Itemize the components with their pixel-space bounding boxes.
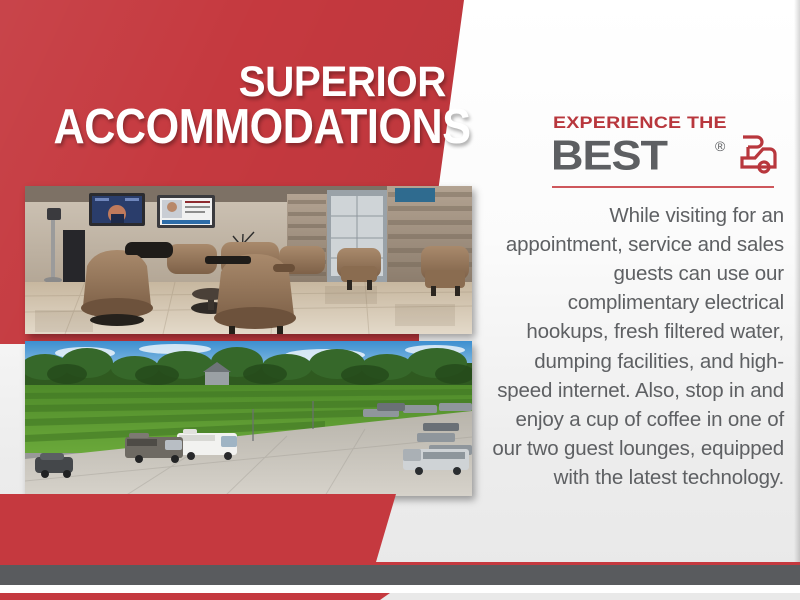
rv-lot-illustration: [25, 341, 472, 496]
poster-page: SUPERIOR ACCOMMODATIONS: [0, 0, 800, 600]
body-paragraph: While visiting for an appointment, servi…: [492, 201, 784, 492]
headline-line-1: SUPERIOR: [27, 62, 446, 103]
experience-the-best-logo: EXPERIENCE THE BEST ®: [548, 114, 780, 192]
right-edge-shadow: [794, 0, 800, 600]
logo-tagline: EXPERIENCE THE: [553, 114, 727, 133]
logo-divider-rule: [552, 186, 774, 188]
guest-lounge-illustration: [25, 186, 472, 334]
rv-motorhome-icon: [736, 134, 780, 176]
rv-lot-photo: [25, 341, 472, 496]
red-bottom-accent: [0, 494, 400, 562]
headline-line-2: ACCOMMODATIONS: [54, 104, 446, 151]
logo-wordmark: BEST: [551, 132, 667, 180]
footer-red-bottom-bar: [0, 593, 400, 600]
rv-motorhome-icon-svg: [736, 134, 780, 176]
registered-trademark-symbol: ®: [715, 138, 725, 154]
guest-lounge-photo: [25, 186, 472, 334]
page-title: SUPERIOR ACCOMMODATIONS: [0, 62, 446, 150]
footer-gray-bar: [0, 565, 800, 585]
